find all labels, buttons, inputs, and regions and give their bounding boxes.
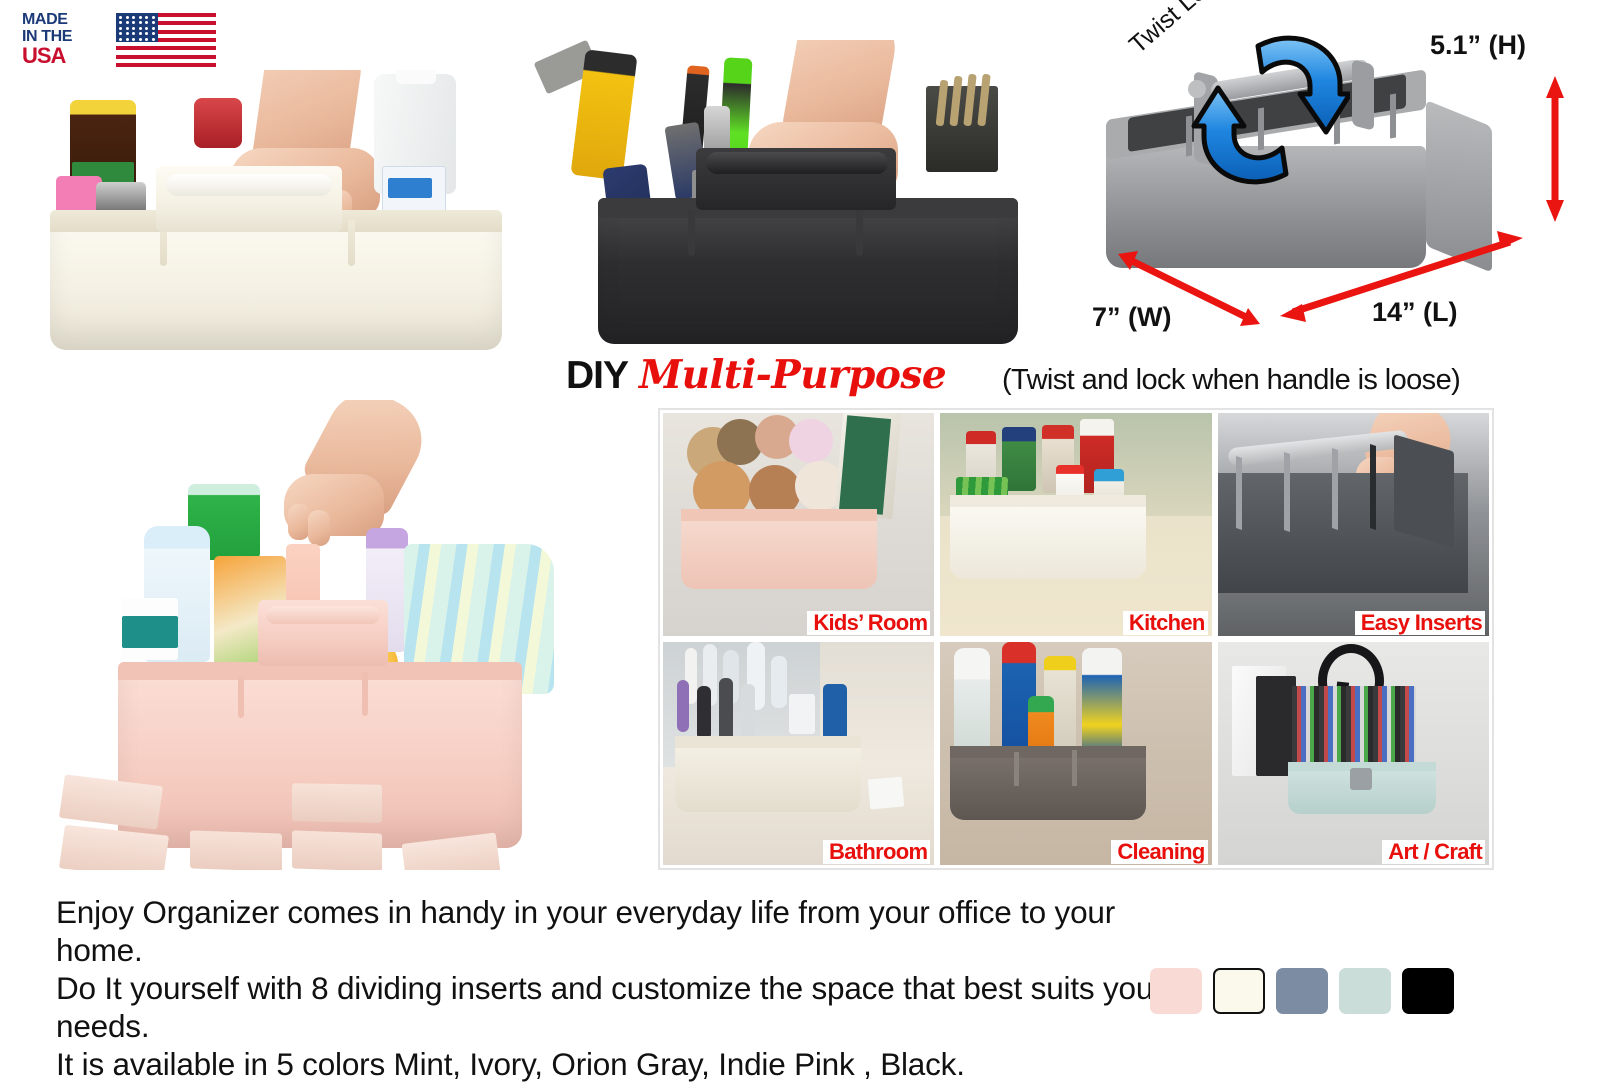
usecase-caption: Bathroom — [823, 840, 930, 864]
hero-photo-tool-caddy — [520, 40, 1020, 350]
color-swatch-indie-pink[interactable] — [1150, 968, 1202, 1014]
description-line-2: Do It yourself with 8 dividing inserts a… — [56, 969, 1176, 1045]
usecase-cell-cleaning: Cleaning — [937, 639, 1214, 868]
dimension-width-label: 7” (W) — [1092, 302, 1171, 333]
badge-line-3: USA — [22, 45, 114, 66]
made-in-usa-text: MADE IN THE USA — [22, 12, 114, 66]
usecase-caption: Cleaning — [1111, 840, 1207, 864]
usecase-cell-kitchen: Kitchen — [937, 410, 1214, 639]
title-prefix: DIY — [566, 354, 628, 397]
color-swatch-black[interactable] — [1402, 968, 1454, 1014]
color-swatch-mint[interactable] — [1339, 968, 1391, 1014]
us-flag-icon — [116, 13, 216, 67]
insert-plate — [402, 833, 501, 870]
description-line-3: It is available in 5 colors Mint, Ivory,… — [56, 1045, 1176, 1083]
usecase-cell-easy-inserts: Easy Inserts — [1215, 410, 1492, 639]
usecase-caption: Easy Inserts — [1355, 611, 1485, 635]
color-swatch-orion-gray[interactable] — [1276, 968, 1328, 1014]
insert-plate — [59, 825, 169, 870]
dividing-inserts — [56, 762, 556, 870]
insert-plate — [59, 774, 163, 829]
page-title: DIYMulti-Purpose — [566, 352, 946, 398]
usecase-cell-bathroom: Bathroom — [660, 639, 937, 868]
dimension-length-label: 14” (L) — [1372, 297, 1458, 328]
dimension-height-label: 5.1” (H) — [1430, 30, 1526, 61]
usecase-caption: Kids’ Room — [807, 611, 930, 635]
usecase-caption: Art / Craft — [1382, 840, 1485, 864]
color-swatch-row — [1150, 968, 1454, 1014]
product-description: Enjoy Organizer comes in handy in your e… — [56, 893, 1176, 1083]
hero-photo-medicine-caddy — [48, 70, 518, 350]
usecase-cell-kids-room: Kids’ Room — [660, 410, 937, 639]
description-line-1: Enjoy Organizer comes in handy in your e… — [56, 893, 1176, 969]
title-emphasis: Multi-Purpose — [628, 352, 946, 398]
badge-line-1: MADE — [22, 12, 114, 29]
insert-plate — [292, 830, 382, 870]
twist-lock-note: (Twist and lock when handle is loose) — [1002, 364, 1460, 397]
made-in-usa-badge: MADE IN THE USA — [22, 10, 218, 72]
usecase-cell-art-craft: Art / Craft — [1215, 639, 1492, 868]
usecase-caption: Kitchen — [1123, 611, 1208, 635]
color-swatch-ivory[interactable] — [1213, 968, 1265, 1014]
insert-plate — [292, 783, 382, 823]
usecase-photo-grid: Kids’ Room Kitchen — [658, 408, 1494, 870]
dimension-arrows — [1080, 20, 1600, 340]
insert-plate — [190, 830, 282, 870]
